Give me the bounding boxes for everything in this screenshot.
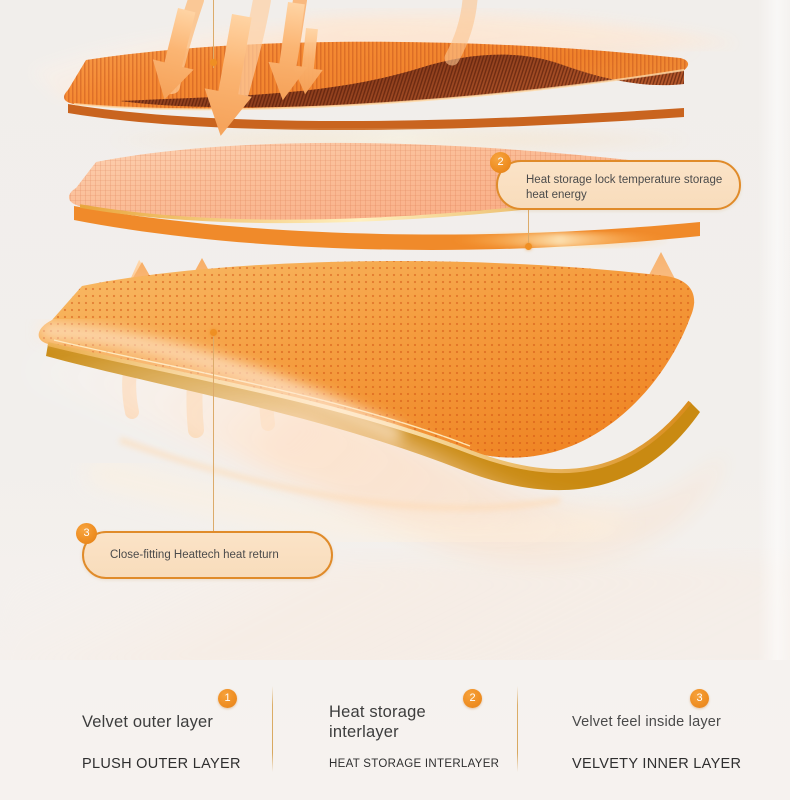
- connector-line-top: [213, 0, 214, 68]
- product-layer-diagram: 2 Heat storage lock temperature storage …: [0, 0, 790, 800]
- connector-line-callout-2: [528, 206, 529, 248]
- callout-badge-2: 2: [490, 152, 511, 173]
- connector-dot-middle-layer: [525, 243, 532, 250]
- legend-column-heat-storage[interactable]: 2 Heat storage interlayer HEAT STORAGE I…: [285, 660, 515, 800]
- legend-subtitle-1: PLUSH OUTER LAYER: [82, 756, 241, 772]
- legend-title-3: Velvet feel inside layer: [572, 712, 721, 732]
- legend-badge-3: 3: [690, 689, 709, 708]
- legend-subtitle-2: HEAT STORAGE INTERLAYER: [329, 758, 499, 770]
- legend-title-2: Heat storage interlayer: [329, 702, 426, 742]
- callout-heat-storage[interactable]: 2 Heat storage lock temperature storage …: [496, 160, 741, 210]
- connector-line-callout-3: [213, 330, 214, 531]
- callout-heattech-return[interactable]: 3 Close-fitting Heattech heat return: [82, 531, 333, 579]
- callout-text-3: Close-fitting Heattech heat return: [110, 548, 325, 563]
- legend-badge-2: 2: [463, 689, 482, 708]
- legend-column-outer-layer[interactable]: 1 Velvet outer layer PLUSH OUTER LAYER: [40, 660, 270, 800]
- layer-legend-bar: 1 Velvet outer layer PLUSH OUTER LAYER 2…: [0, 660, 790, 800]
- layer-top-velvet: [64, 42, 688, 130]
- callout-badge-3: 3: [76, 523, 97, 544]
- connector-dot-bottom-layer: [210, 329, 217, 336]
- legend-badge-1: 1: [218, 689, 237, 708]
- legend-subtitle-3: VELVETY INNER LAYER: [572, 756, 741, 772]
- legend-column-inner-layer[interactable]: 3 Velvet feel inside layer VELVETY INNER…: [530, 660, 775, 800]
- legend-divider-2: [517, 686, 518, 772]
- legend-divider-1: [272, 686, 273, 772]
- connector-dot-top-layer: [210, 59, 217, 66]
- legend-title-1: Velvet outer layer: [82, 712, 213, 732]
- callout-text-2: Heat storage lock temperature storage he…: [526, 173, 734, 202]
